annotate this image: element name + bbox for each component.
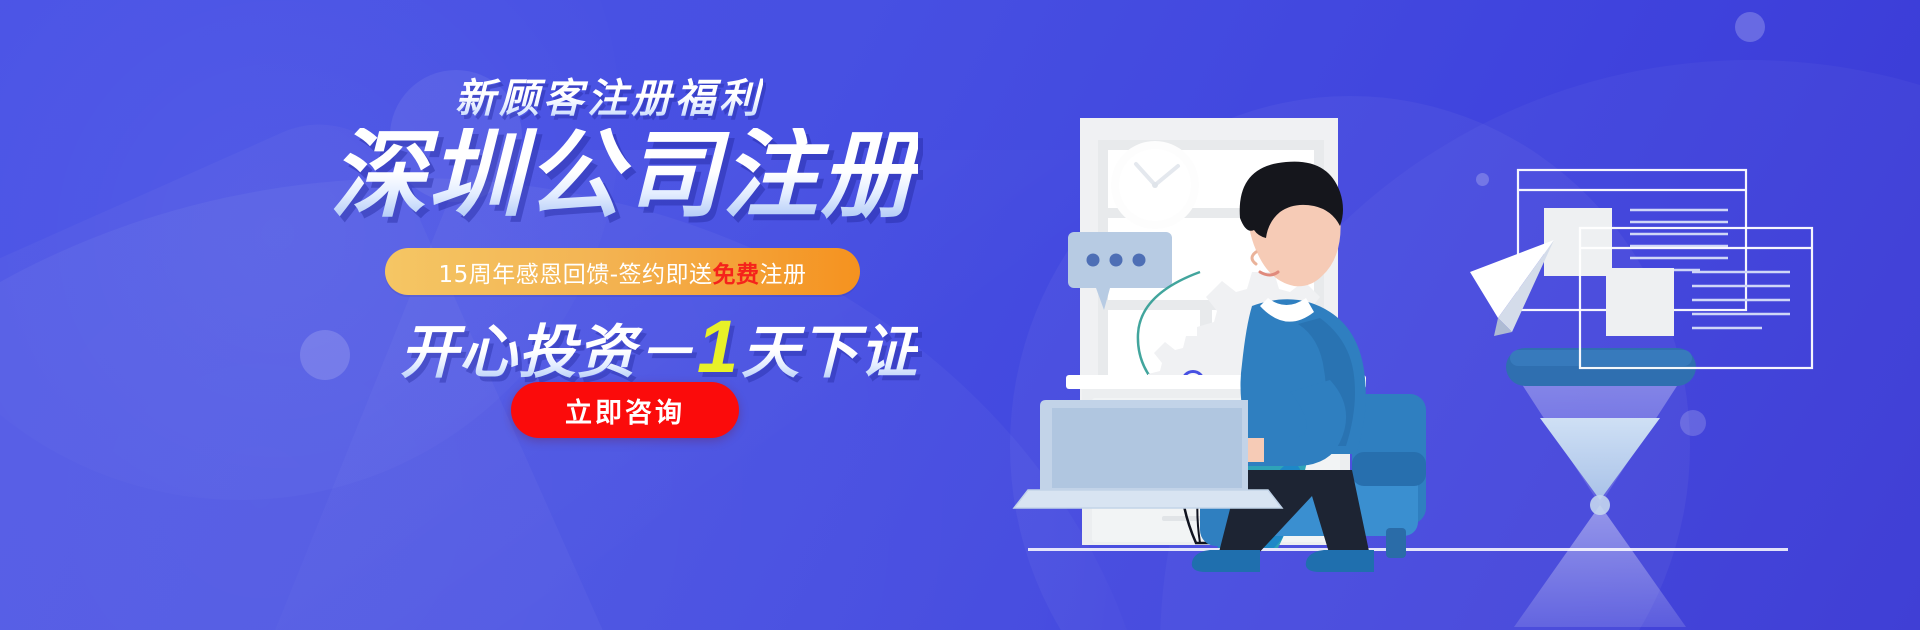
offer-badge: 15周年感恩回馈-签约即送免费注册 — [385, 248, 860, 295]
subheadline-number: 1 — [695, 305, 741, 388]
page-title: 深圳公司注册 — [330, 128, 918, 224]
subheadline-suffix: 天下证 — [741, 320, 918, 385]
paper-plane-icon — [1470, 240, 1554, 336]
illustration — [900, 0, 1920, 630]
wall-clock-icon — [1111, 141, 1199, 229]
offer-badge-highlight: 免费 — [713, 262, 760, 288]
offer-badge-text: 15周年感恩回馈-签约即送免费注册 — [438, 255, 806, 289]
consult-now-button-label: 立即咨询 — [565, 391, 685, 430]
hourglass-icon — [1506, 348, 1696, 627]
document-card-front-thumb — [1606, 268, 1674, 336]
subheadline: 开心投资－1天下证 — [400, 310, 918, 384]
subheadline-prefix: 开心投资－ — [400, 320, 695, 385]
promo-banner: 新顾客注册福利 深圳公司注册 15周年感恩回馈-签约即送免费注册 开心投资－1天… — [0, 0, 1920, 630]
laptop — [1014, 400, 1282, 508]
consult-now-button[interactable]: 立即咨询 — [511, 382, 739, 438]
document-card-back-lines — [1630, 210, 1728, 270]
floor-line — [1028, 548, 1788, 551]
document-card-back-thumb — [1544, 208, 1612, 276]
offer-badge-prefix: 15周年感恩回馈-签约即送 — [438, 262, 712, 288]
eyebrow-text: 新顾客注册福利 — [455, 66, 763, 124]
copy-block: 新顾客注册福利 深圳公司注册 15周年感恩回馈-签约即送免费注册 开心投资－1天… — [0, 0, 1000, 630]
offer-badge-suffix: 注册 — [760, 262, 807, 288]
document-card-front-lines — [1692, 272, 1790, 328]
